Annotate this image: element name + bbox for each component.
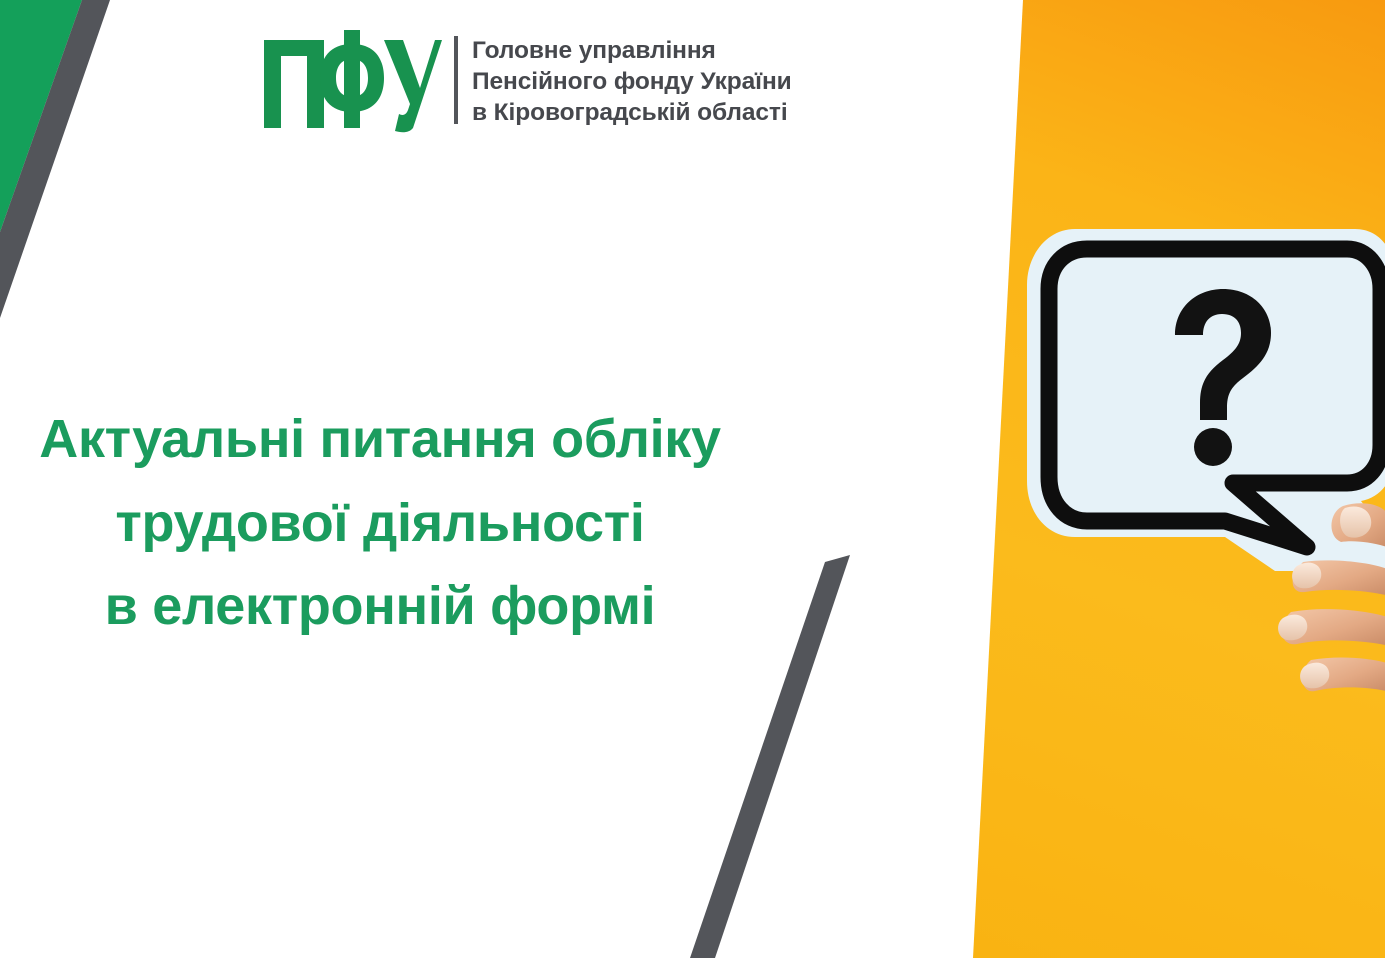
pfu-logo-icon: [262, 28, 444, 134]
page-title: Актуальні питання обліку трудової діяльн…: [0, 398, 760, 649]
logo-divider: [454, 36, 458, 124]
poster-canvas: Головне управління Пенсійного фонду Укра…: [0, 0, 1385, 958]
page-title-line-1: Актуальні питання обліку: [0, 398, 760, 482]
org-name-line-1: Головне управління: [472, 35, 792, 66]
page-title-line-2: трудової діяльності: [0, 482, 760, 566]
hand-holding-sign: [1245, 500, 1385, 715]
page-title-line-3: в електронній формі: [0, 565, 760, 649]
hand-holding-sign-icon: [1245, 500, 1385, 715]
org-name-line-3: в Кіровоградській області: [472, 97, 792, 128]
org-name-block: Головне управління Пенсійного фонду Укра…: [472, 35, 792, 128]
org-name-line-2: Пенсійного фонду України: [472, 66, 792, 97]
pfu-logo: Головне управління Пенсійного фонду Укра…: [262, 28, 792, 134]
